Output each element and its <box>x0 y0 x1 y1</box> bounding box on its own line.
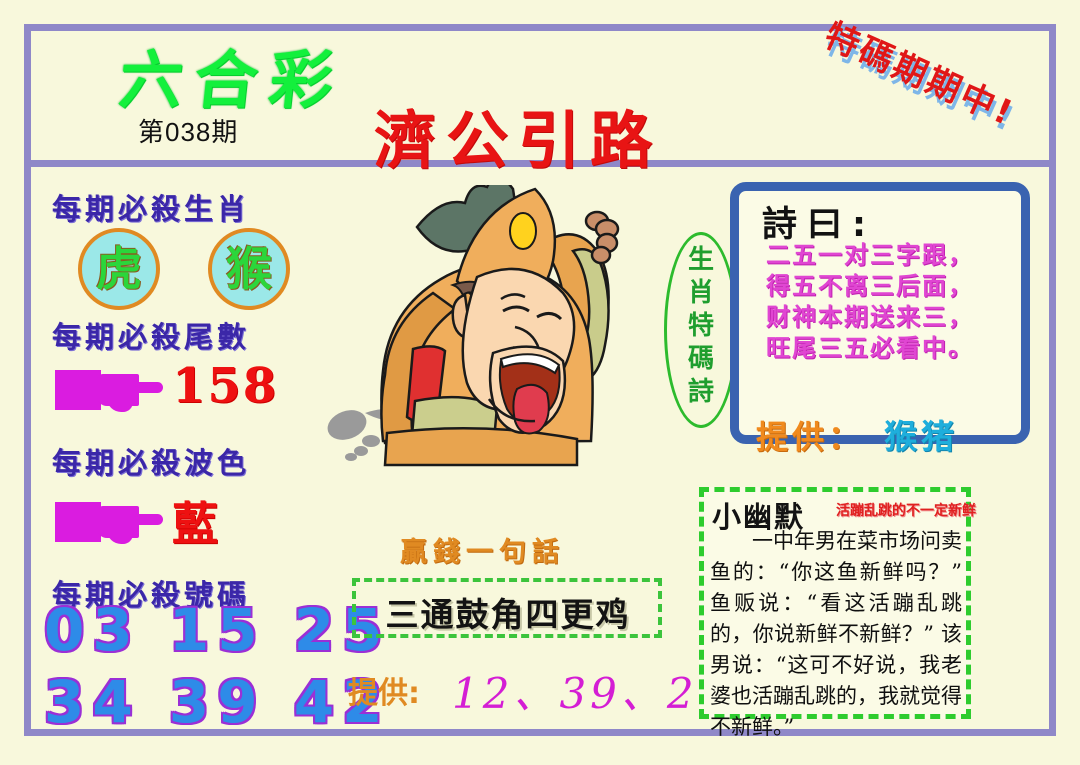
issue-number: 第038期 <box>138 112 238 149</box>
humor-body: 一中年男在菜市场问卖鱼的：“你这鱼新鲜吗？” 鱼贩说：“看这活蹦乱跳的，你说新鲜… <box>710 526 962 743</box>
pointing-hand-icon-2 <box>55 500 163 544</box>
label-kill-color: 每期必殺波色 <box>52 440 250 482</box>
poem-lines: 二五一对三字跟， 得五不离三后面， 财神本期送来三， 旺尾三五必看中。 <box>766 240 1036 364</box>
zodiac-circle-monkey: 猴 <box>208 228 290 310</box>
frame-border-left <box>24 24 31 736</box>
zodiac-poem-oval-label: 生肖特碼詩 <box>678 244 724 409</box>
zodiac-label-tiger: 虎 <box>96 246 142 292</box>
kill-tails-value: 158 <box>172 358 278 414</box>
kill-numbers-row-2: 34 39 42 <box>44 668 391 736</box>
frame-border-right <box>1049 24 1056 736</box>
center-supply-label: 提供: <box>348 668 420 712</box>
label-kill-zodiac: 每期必殺生肖 <box>52 186 250 228</box>
label-kill-tails: 每期必殺尾數 <box>52 314 250 356</box>
poem-supply-label: 提供： <box>756 412 864 458</box>
poem-supply-value: 猴猪 <box>884 410 958 458</box>
pointing-hand-icon <box>55 368 163 412</box>
humor-subtitle: 活蹦乱跳的不一定新鲜 <box>836 500 976 520</box>
zodiac-label-monkey: 猴 <box>226 246 272 292</box>
center-supply-value: 12、39、21 <box>452 660 728 721</box>
poster-page: 六合彩 第038期 濟公引路 特碼期期中! 每期必殺生肖 虎 猴 每期必殺尾數 … <box>0 0 1080 765</box>
win-phrase-label: 贏錢一句話 <box>400 530 565 569</box>
poem-line-4: 旺尾三五必看中。 <box>766 333 1036 364</box>
poem-line-1: 二五一对三字跟， <box>766 240 1036 271</box>
zodiac-circle-tiger: 虎 <box>78 228 160 310</box>
kill-color-value: 藍 <box>172 488 220 554</box>
page-title: 濟公引路 <box>374 90 662 180</box>
poem-line-3: 财神本期送来三， <box>766 302 1036 333</box>
zodiac-circle-row: 虎 猴 <box>78 228 308 318</box>
win-phrase-value: 三通鼓角四更鸡 <box>360 588 656 636</box>
ji-gong-monk-cartoon <box>325 185 645 495</box>
poem-line-2: 得五不离三后面， <box>766 271 1036 302</box>
kill-numbers-row-1: 03 15 25 <box>44 596 391 664</box>
brand-title: 六合彩 <box>115 30 350 121</box>
